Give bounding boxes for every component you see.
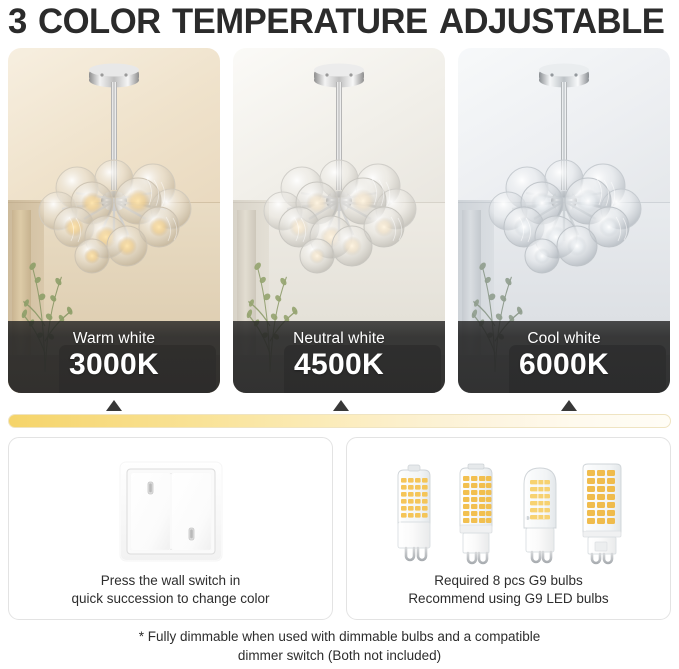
- product-infographic: 3 COLOR TEMPERATURE ADJUSTABLE: [0, 0, 679, 669]
- wall-switch-caption-line-0: Press the wall switch in: [19, 572, 322, 590]
- chandelier-warm: [14, 51, 214, 311]
- g9-bulbs-caption: Required 8 pcs G9 bulbs Recommend using …: [347, 572, 670, 619]
- panel-kelvin-neutral: 4500K: [294, 348, 384, 382]
- title-word-3: ADJUSTABLE: [439, 2, 664, 42]
- title-word-2: TEMPERATURE: [172, 2, 428, 42]
- panel-label-warm: Warm white 3000K: [8, 321, 220, 393]
- chandelier-neutral: [239, 51, 439, 311]
- footnote-line-0: * Fully dimmable when used with dimmable…: [0, 628, 679, 647]
- panel-cool-white: Cool white 6000K: [458, 48, 670, 393]
- page-title: 3 COLOR TEMPERATURE ADJUSTABLE: [8, 0, 664, 44]
- panel-kelvin-cool: 6000K: [519, 348, 609, 382]
- footnote: * Fully dimmable when used with dimmable…: [0, 628, 679, 665]
- footnote-line-1: dimmer switch (Both not included): [0, 647, 679, 666]
- panel-warm-white: Warm white 3000K: [8, 48, 220, 393]
- panel-name-neutral: Neutral white: [293, 331, 385, 347]
- title-word-0: 3: [8, 2, 27, 42]
- g9-bulbs-art: [347, 451, 670, 572]
- wall-switch-art: [9, 451, 332, 572]
- panel-name-warm: Warm white: [73, 331, 155, 347]
- chandelier-cool: [464, 51, 664, 311]
- g9-bulbs-caption-line-0: Required 8 pcs G9 bulbs: [357, 572, 660, 590]
- panel-label-neutral: Neutral white 4500K: [233, 321, 445, 393]
- panel-name-cool: Cool white: [527, 331, 600, 347]
- panel-kelvin-warm: 3000K: [69, 348, 159, 382]
- panel-neutral-white: Neutral white 4500K: [233, 48, 445, 393]
- title-word-1: COLOR: [38, 2, 161, 42]
- gradient-marker-neutral: [333, 400, 349, 411]
- wall-switch-caption-line-1: quick succession to change color: [19, 590, 322, 608]
- card-g9-bulbs: Required 8 pcs G9 bulbs Recommend using …: [346, 437, 671, 620]
- color-temperature-gradient-bar: [8, 414, 671, 428]
- wall-switch-icon: [117, 460, 225, 563]
- gradient-marker-cool: [561, 400, 577, 411]
- card-wall-switch: Press the wall switch in quick successio…: [8, 437, 333, 620]
- color-temperature-panels: Warm white 3000K: [8, 48, 671, 393]
- g9-bulbs-caption-line-1: Recommend using G9 LED bulbs: [357, 590, 660, 608]
- feature-cards: Press the wall switch in quick successio…: [8, 437, 671, 620]
- g9-bulbs-icon: [380, 456, 638, 568]
- wall-switch-caption: Press the wall switch in quick successio…: [9, 572, 332, 619]
- gradient-marker-warm: [106, 400, 122, 411]
- panel-label-cool: Cool white 6000K: [458, 321, 670, 393]
